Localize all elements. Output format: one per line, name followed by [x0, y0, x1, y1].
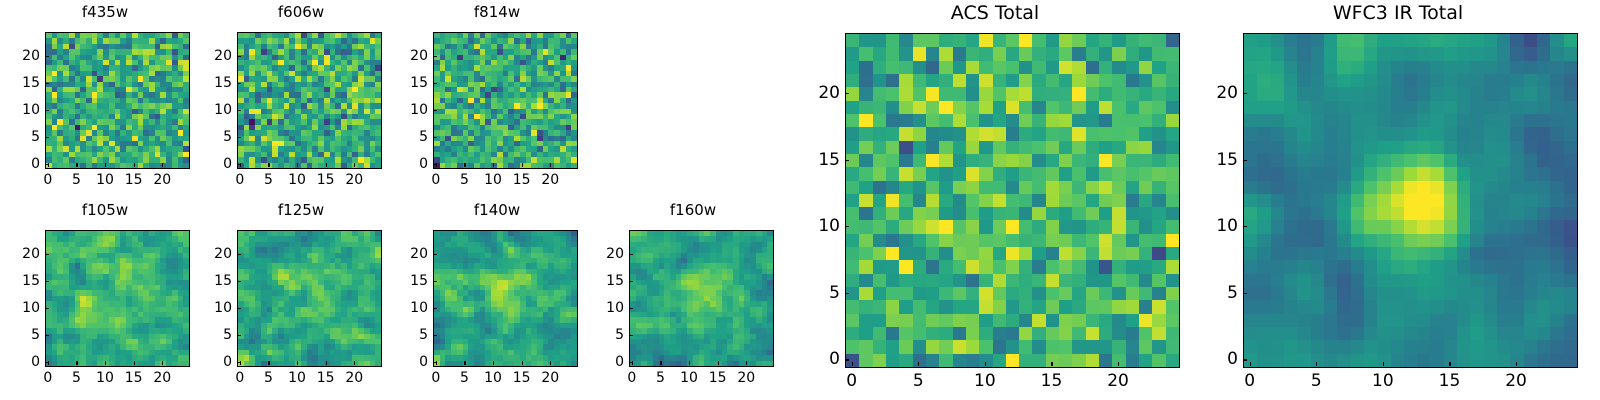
heatmap-cell [899, 141, 912, 154]
heatmap-cell [873, 141, 886, 154]
heatmap-cell [1059, 34, 1072, 47]
panel-f814w: f814w 0055101015152020 [392, 0, 602, 200]
y-tick-mark [237, 281, 241, 282]
heatmap-axes-acs-total[interactable] [845, 33, 1180, 368]
heatmap-cell [1032, 260, 1045, 273]
heatmap-cell [1019, 260, 1032, 273]
heatmap-cell [953, 260, 966, 273]
y-tick-mark [433, 335, 437, 336]
heatmap-cell [1112, 141, 1125, 154]
heatmap-cell [859, 194, 872, 207]
heatmap-cell [966, 47, 979, 60]
heatmap-cell [846, 141, 859, 154]
heatmap-cell [1112, 181, 1125, 194]
heatmap-cell [859, 220, 872, 233]
heatmap-cell [966, 74, 979, 87]
heatmap-cell [1086, 247, 1099, 260]
y-tick-mark [237, 137, 241, 138]
heatmap-cell [859, 181, 872, 194]
x-tick-mark [464, 361, 465, 365]
heatmap-cell [953, 194, 966, 207]
x-tick-mark [718, 361, 719, 365]
heatmap-cell [1059, 127, 1072, 140]
heatmap-cell [1006, 194, 1019, 207]
heatmap-f105w [46, 231, 189, 366]
heatmap-cell [873, 220, 886, 233]
heatmap-cell [1139, 234, 1152, 247]
heatmap-cell [1112, 220, 1125, 233]
heatmap-cell [926, 167, 939, 180]
heatmap-cell [979, 194, 992, 207]
panel-f105w: f105w 0055101015152020 [0, 198, 210, 400]
heatmap-cell [767, 361, 773, 366]
heatmap-cell [375, 361, 381, 366]
heatmap-cell [926, 247, 939, 260]
heatmap-cell [953, 34, 966, 47]
y-tick-mark [45, 335, 49, 336]
heatmap-cell [993, 207, 1006, 220]
heatmap-cell [899, 260, 912, 273]
heatmap-cell [1099, 47, 1112, 60]
heatmap-cell [979, 141, 992, 154]
y-tick-label: 10 [410, 300, 428, 316]
heatmap-cell [913, 154, 926, 167]
heatmap-cell [886, 181, 899, 194]
y-tick-label: 15 [606, 273, 624, 289]
heatmap-cell [1032, 87, 1045, 100]
heatmap-cell [1126, 194, 1139, 207]
heatmap-cell [1032, 247, 1045, 260]
heatmap-acs-total [846, 34, 1179, 367]
heatmap-cell [859, 47, 872, 60]
heatmap-cell [859, 247, 872, 260]
x-tick-mark [326, 163, 327, 167]
heatmap-cell [993, 61, 1006, 74]
heatmap-cell [899, 181, 912, 194]
y-tick-mark [629, 335, 633, 336]
heatmap-cell [939, 34, 952, 47]
heatmap-cell [913, 34, 926, 47]
heatmap-cell [913, 207, 926, 220]
x-tick-label: 20 [737, 370, 755, 386]
y-tick-mark [45, 110, 49, 111]
y-tick-mark [433, 164, 437, 165]
heatmap-axes-f105w[interactable] [45, 230, 190, 367]
heatmap-cell [953, 127, 966, 140]
heatmap-cell [1032, 154, 1045, 167]
heatmap-cell [1046, 74, 1059, 87]
heatmap-cell [1019, 47, 1032, 60]
heatmap-cell [1086, 141, 1099, 154]
heatmap-cell [1152, 114, 1165, 127]
heatmap-cell [1112, 61, 1125, 74]
y-tick-mark [433, 281, 437, 282]
heatmap-cell [886, 260, 899, 273]
heatmap-cell [1019, 220, 1032, 233]
heatmap-cell [1086, 260, 1099, 273]
heatmap-cell [846, 127, 859, 140]
heatmap-cell [966, 167, 979, 180]
y-tick-mark [433, 308, 437, 309]
heatmap-cell [913, 61, 926, 74]
heatmap-cell [1166, 220, 1179, 233]
heatmap-f140w [434, 231, 577, 366]
heatmap-cell [926, 141, 939, 154]
heatmap-cell [859, 127, 872, 140]
heatmap-cell [846, 207, 859, 220]
heatmap-cell [1126, 220, 1139, 233]
heatmap-cell [993, 194, 1006, 207]
heatmap-cell [899, 154, 912, 167]
heatmap-cell [1166, 260, 1179, 273]
heatmap-cell [1032, 220, 1045, 233]
heatmap-cell [1046, 167, 1059, 180]
heatmap-cell [926, 194, 939, 207]
heatmap-cell [979, 101, 992, 114]
panel-f125w: f125w 0055101015152020 [196, 198, 406, 400]
x-tick-label: 0 [431, 172, 440, 188]
heatmap-cell [926, 260, 939, 273]
heatmap-cell [966, 114, 979, 127]
heatmap-cell [953, 247, 966, 260]
heatmap-cell [926, 74, 939, 87]
heatmap-cell [1046, 61, 1059, 74]
heatmap-cell [1032, 194, 1045, 207]
heatmap-cell [1152, 220, 1165, 233]
heatmap-cell [979, 87, 992, 100]
x-tick-label: 15 [317, 172, 335, 188]
y-tick-label: 20 [214, 48, 232, 64]
x-tick-label: 0 [43, 172, 52, 188]
heatmap-cell [1032, 47, 1045, 60]
heatmap-cell [1139, 260, 1152, 273]
heatmap-cell [939, 207, 952, 220]
heatmap-cell [846, 34, 859, 47]
heatmap-cell [1072, 34, 1085, 47]
heatmap-cell [1072, 114, 1085, 127]
heatmap-cell [1112, 154, 1125, 167]
heatmap-cell [886, 220, 899, 233]
heatmap-cell [953, 167, 966, 180]
heatmap-cell [1059, 207, 1072, 220]
heatmap-cell [1046, 47, 1059, 60]
heatmap-cell [899, 87, 912, 100]
heatmap-cell [979, 167, 992, 180]
x-tick-mark [162, 361, 163, 365]
x-tick-mark [76, 361, 77, 365]
x-tick-label: 0 [235, 172, 244, 188]
heatmap-cell [1072, 87, 1085, 100]
heatmap-cell [1072, 74, 1085, 87]
y-tick-label: 5 [615, 327, 624, 343]
heatmap-cell [1019, 194, 1032, 207]
x-tick-label: 0 [431, 370, 440, 386]
heatmap-cell [899, 127, 912, 140]
y-tick-label: 0 [31, 354, 40, 370]
heatmap-cell [1086, 220, 1099, 233]
heatmap-cell [1006, 181, 1019, 194]
heatmap-cell [939, 167, 952, 180]
heatmap-cell [1086, 127, 1099, 140]
heatmap-cell [1046, 154, 1059, 167]
heatmap-cell [993, 220, 1006, 233]
heatmap-cell [1072, 127, 1085, 140]
heatmap-axes-f814w[interactable] [433, 32, 578, 169]
heatmap-cell [1086, 87, 1099, 100]
heatmap-cell [1072, 47, 1085, 60]
heatmap-cell [1032, 234, 1045, 247]
heatmap-cell [1059, 234, 1072, 247]
heatmap-cell [1166, 167, 1179, 180]
heatmap-cell [1099, 141, 1112, 154]
heatmap-cell [979, 234, 992, 247]
heatmap-cell [1126, 167, 1139, 180]
heatmap-cell [1072, 234, 1085, 247]
x-tick-label: 20 [153, 370, 171, 386]
heatmap-cell [1152, 207, 1165, 220]
y-tick-label: 10 [22, 300, 40, 316]
heatmap-cell [1139, 154, 1152, 167]
heatmap-cell [1099, 194, 1112, 207]
heatmap-cell [979, 47, 992, 60]
x-tick-mark [105, 163, 106, 167]
heatmap-cell [899, 61, 912, 74]
x-tick-mark [464, 163, 465, 167]
x-tick-label: 20 [153, 172, 171, 188]
heatmap-cell [926, 207, 939, 220]
heatmap-cell [966, 154, 979, 167]
heatmap-cell [926, 154, 939, 167]
heatmap-cell [926, 61, 939, 74]
heatmap-cell [1059, 247, 1072, 260]
heatmap-cell [993, 47, 1006, 60]
heatmap-cell [859, 207, 872, 220]
heatmap-cell [1019, 141, 1032, 154]
x-tick-mark [268, 361, 269, 365]
heatmap-cell [1139, 194, 1152, 207]
y-tick-mark [629, 281, 633, 282]
heatmap-cell [1126, 61, 1139, 74]
heatmap-cell [913, 87, 926, 100]
heatmap-cell [913, 74, 926, 87]
heatmap-cell [1126, 34, 1139, 47]
heatmap-cell [1006, 34, 1019, 47]
heatmap-cell [1112, 247, 1125, 260]
heatmap-cell [1046, 34, 1059, 47]
heatmap-cell [1046, 141, 1059, 154]
y-tick-mark [433, 110, 437, 111]
heatmap-cell [1166, 194, 1179, 207]
heatmap-cell [1139, 207, 1152, 220]
heatmap-cell [953, 234, 966, 247]
heatmap-cell [1086, 101, 1099, 114]
heatmap-cell [873, 101, 886, 114]
heatmap-cell [1152, 154, 1165, 167]
x-tick-mark [297, 361, 298, 365]
heatmap-cell [939, 141, 952, 154]
heatmap-cell [953, 220, 966, 233]
heatmap-cell [1099, 34, 1112, 47]
heatmap-cell [1166, 127, 1179, 140]
heatmap-cell [1152, 61, 1165, 74]
panel-f140w: f140w 0055101015152020 [392, 198, 602, 400]
y-tick-label: 20 [214, 246, 232, 262]
heatmap-cell [1152, 141, 1165, 154]
heatmap-cell [1019, 87, 1032, 100]
heatmap-cell [1032, 207, 1045, 220]
heatmap-cell [1099, 234, 1112, 247]
heatmap-cell [1086, 181, 1099, 194]
heatmap-cell [859, 167, 872, 180]
y-tick-label: 20 [410, 48, 428, 64]
y-tick-label: 10 [214, 300, 232, 316]
heatmap-cell [966, 260, 979, 273]
heatmap-cell [886, 194, 899, 207]
heatmap-cell [1072, 247, 1085, 260]
x-tick-mark [297, 163, 298, 167]
heatmap-cell [1126, 260, 1139, 273]
heatmap-cell [873, 234, 886, 247]
figure-canvas: f435w 0055101015152020 f606w 00551010151… [0, 0, 1600, 400]
heatmap-cell [1166, 74, 1179, 87]
y-tick-mark [433, 56, 437, 57]
heatmap-cell [1139, 47, 1152, 60]
y-tick-mark [45, 362, 49, 363]
heatmap-cell [939, 74, 952, 87]
heatmap-cell [1166, 154, 1179, 167]
heatmap-cell [1086, 34, 1099, 47]
heatmap-cell [1166, 141, 1179, 154]
x-tick-label: 10 [288, 172, 306, 188]
heatmap-cell [1152, 194, 1165, 207]
heatmap-cell [913, 181, 926, 194]
heatmap-cell [1166, 207, 1179, 220]
heatmap-cell [859, 74, 872, 87]
heatmap-cell [939, 87, 952, 100]
heatmap-cell [939, 114, 952, 127]
x-tick-label: 0 [627, 370, 636, 386]
panel-f435w: f435w 0055101015152020 [0, 0, 210, 200]
heatmap-cell [1006, 167, 1019, 180]
heatmap-cell [1006, 141, 1019, 154]
panel-f606w: f606w 0055101015152020 [196, 0, 406, 200]
heatmap-cell [939, 260, 952, 273]
heatmap-cell [1072, 101, 1085, 114]
heatmap-cell [966, 247, 979, 260]
heatmap-cell [1166, 234, 1179, 247]
heatmap-cell [1099, 127, 1112, 140]
heatmap-cell [926, 87, 939, 100]
heatmap-cell [939, 61, 952, 74]
heatmap-cell [1019, 154, 1032, 167]
heatmap-cell [1139, 114, 1152, 127]
y-tick-mark [237, 110, 241, 111]
x-tick-mark [689, 361, 690, 365]
y-tick-mark [237, 308, 241, 309]
heatmap-cell [1059, 181, 1072, 194]
heatmap-cell [979, 127, 992, 140]
heatmap-cell [886, 207, 899, 220]
y-tick-label: 0 [419, 354, 428, 370]
panel-title-f140w: f140w [392, 201, 602, 219]
y-tick-mark [45, 83, 49, 84]
heatmap-cell [993, 34, 1006, 47]
heatmap-cell [571, 361, 577, 366]
heatmap-cell [1099, 74, 1112, 87]
heatmap-cell [1112, 194, 1125, 207]
y-tick-mark [629, 254, 633, 255]
heatmap-cell [846, 194, 859, 207]
heatmap-cell [1006, 220, 1019, 233]
heatmap-cell [939, 101, 952, 114]
heatmap-cell [953, 87, 966, 100]
heatmap-axes-f140w[interactable] [433, 230, 578, 367]
heatmap-cell [1019, 207, 1032, 220]
heatmap-cell [1126, 114, 1139, 127]
y-tick-label: 15 [214, 75, 232, 91]
heatmap-cell [1059, 220, 1072, 233]
heatmap-axes-f606w[interactable] [237, 32, 382, 169]
heatmap-cell [873, 114, 886, 127]
heatmap-cell [966, 234, 979, 247]
heatmap-cell [886, 141, 899, 154]
heatmap-cell [993, 181, 1006, 194]
x-tick-mark [522, 361, 523, 365]
heatmap-cell [966, 127, 979, 140]
heatmap-cell [1139, 61, 1152, 74]
x-tick-label: 20 [541, 172, 559, 188]
heatmap-cell [1059, 61, 1072, 74]
x-tick-mark [134, 361, 135, 365]
y-tick-mark [433, 254, 437, 255]
heatmap-cell [846, 234, 859, 247]
heatmap-cell [953, 114, 966, 127]
heatmap-cell [1072, 167, 1085, 180]
heatmap-cell [1152, 181, 1165, 194]
y-tick-label: 15 [410, 273, 428, 289]
heatmap-cell [1019, 34, 1032, 47]
heatmap-cell [1059, 47, 1072, 60]
heatmap-cell [1112, 127, 1125, 140]
heatmap-axes-f160w[interactable] [629, 230, 774, 367]
heatmap-cell [1099, 61, 1112, 74]
x-tick-mark [354, 361, 355, 365]
x-tick-label: 15 [125, 370, 143, 386]
heatmap-axes-f125w[interactable] [237, 230, 382, 367]
heatmap-cell [1072, 194, 1085, 207]
heatmap-cell [953, 154, 966, 167]
heatmap-cell [1112, 207, 1125, 220]
heatmap-cell [1152, 74, 1165, 87]
heatmap-cell [913, 247, 926, 260]
heatmap-cell [886, 74, 899, 87]
heatmap-cell [886, 154, 899, 167]
heatmap-cell [1152, 34, 1165, 47]
heatmap-cell [1019, 127, 1032, 140]
heatmap-axes-f435w[interactable] [45, 32, 190, 169]
x-tick-mark [550, 361, 551, 365]
heatmap-cell [183, 163, 189, 168]
heatmap-cell [1046, 234, 1059, 247]
heatmap-cell [1099, 260, 1112, 273]
heatmap-cell [1072, 154, 1085, 167]
heatmap-cell [1126, 141, 1139, 154]
heatmap-cell [571, 163, 577, 168]
heatmap-cell [926, 101, 939, 114]
x-tick-label: 5 [460, 172, 469, 188]
heatmap-cell [1152, 260, 1165, 273]
heatmap-cell [846, 47, 859, 60]
